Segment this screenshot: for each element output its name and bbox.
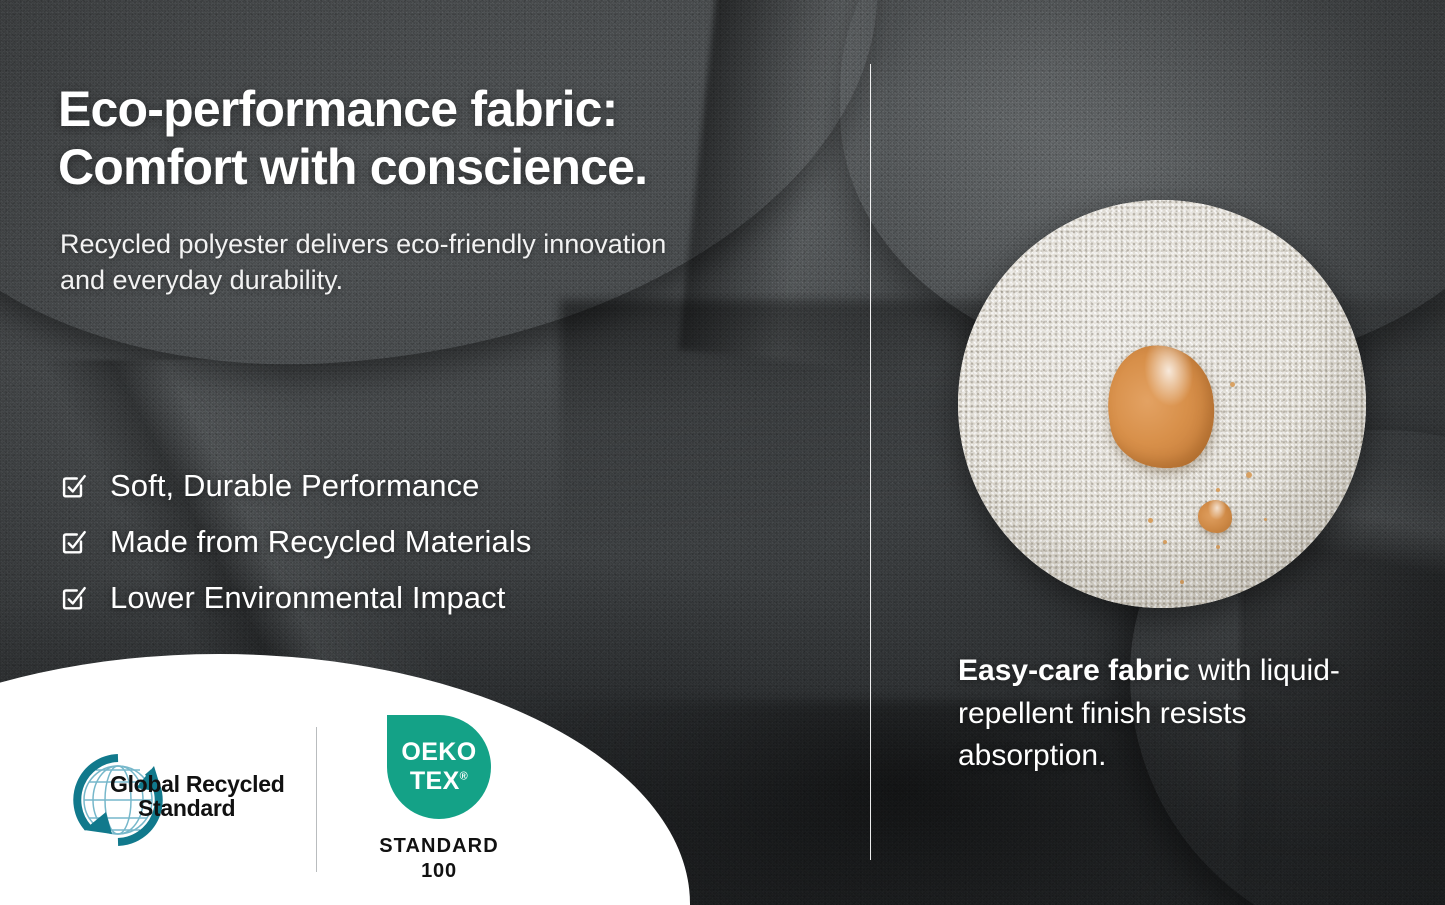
oeko-line-2: TEX® [410,769,468,794]
certification-badges: Global Recycled Standard OEKO TEX® STAND… [62,715,523,884]
global-recycled-standard-logo: Global Recycled Standard [62,744,294,856]
column-divider [870,64,871,860]
oeko-standard-label: STANDARD 100 [355,834,523,884]
product-feature-graphic: Eco-performance fabric: Comfort with con… [0,0,1445,905]
grs-line-2: Standard [110,796,300,821]
checkbox-checked-icon [58,527,88,557]
oeko-line-1: OEKO [401,740,476,765]
oeko-standard-word: STANDARD [379,835,499,857]
list-item: Soft, Durable Performance [58,458,758,514]
badge-divider [316,727,317,872]
swatch-edge-shading [958,200,1366,608]
oeko-standard-number: 100 [355,859,523,884]
inset-caption: Easy-care fabric with liquid-repellent f… [958,650,1388,778]
page-title: Eco-performance fabric: Comfort with con… [58,80,838,196]
benefit-label: Lower Environmental Impact [110,580,505,616]
checkbox-checked-icon [58,583,88,613]
registered-mark: ® [460,771,469,783]
benefit-label: Soft, Durable Performance [110,468,480,504]
list-item: Made from Recycled Materials [58,514,758,570]
subheadline: Recycled polyester delivers eco-friendly… [60,226,700,298]
grs-wordmark: Global Recycled Standard [110,772,300,822]
oeko-tex-word: TEX [410,767,460,795]
oeko-tex-droplet-icon: OEKO TEX® [387,715,491,819]
headline-line-2: Comfort with conscience. [58,139,647,195]
oeko-tex-standard-100-logo: OEKO TEX® STANDARD 100 [355,715,523,884]
headline-line-1: Eco-performance fabric: [58,81,618,137]
fabric-closeup-circle [958,200,1366,608]
benefit-label: Made from Recycled Materials [110,524,531,560]
grs-line-1: Global Recycled [110,771,284,797]
caption-bold: Easy-care fabric [958,654,1190,687]
benefit-list: Soft, Durable Performance Made from Recy… [58,458,758,626]
list-item: Lower Environmental Impact [58,570,758,626]
checkbox-checked-icon [58,471,88,501]
